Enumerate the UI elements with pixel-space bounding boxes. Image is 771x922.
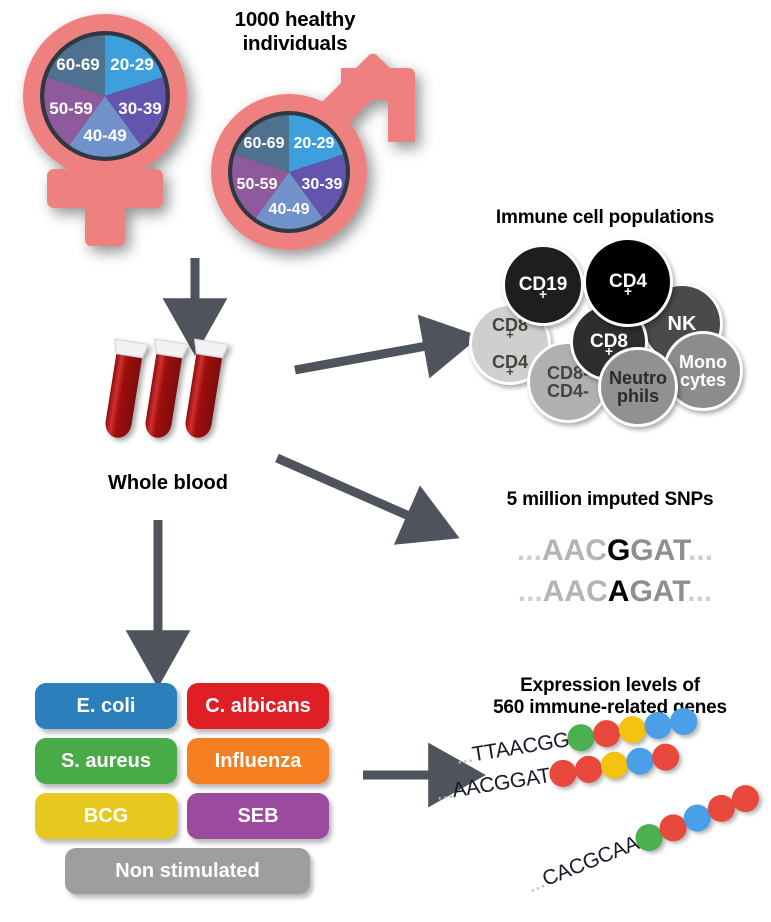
snp-prefix: ... [518,575,543,608]
expression-strand: ...CACGCAA [523,781,763,899]
stimulus-c-albicans[interactable]: C. albicans [187,683,329,729]
stimulus-label: E. coli [77,695,136,718]
svg-text:20-29: 20-29 [110,55,153,74]
immune-cell-cluster: CD8+CD4+ CD19+ CD4+ NK CD8+ CD8-CD4- Neu… [455,237,755,422]
strand-bases: CACGCAA [539,831,642,890]
svg-text:40-49: 40-49 [83,126,126,145]
stimulus-non-stimulated[interactable]: Non stimulated [65,848,310,894]
stimuli-panel: E. coli C. albicans S. aureus Influenza … [35,683,340,894]
stimulus-label: Non stimulated [115,860,259,883]
svg-text:60-69: 60-69 [56,55,99,74]
strand-sequence-text: ...AACGGAT [434,764,552,806]
snp-left: AAC [542,534,607,567]
cell-neutrophils[interactable]: Neutrophils [598,347,678,427]
expression-strands: ...TTAACGG ...AACGGAT ...CACGCAA [450,730,770,915]
stimulus-influenza[interactable]: Influenza [187,738,329,784]
bead [650,742,681,773]
svg-text:40-49: 40-49 [269,201,310,218]
bead [573,754,604,785]
strand-sequence-text: ...CACGCAA [524,831,643,898]
blood-tubes [100,335,240,465]
bead [617,714,648,745]
expression-title: Expression levels of 560 immune-related … [455,675,765,720]
stimulus-e-coli[interactable]: E. coli [35,683,177,729]
arrow-blood-to-immune [295,343,443,370]
svg-text:60-69: 60-69 [244,135,285,152]
snp-right: GAT [630,534,688,567]
snp-prefix: ... [517,534,542,567]
stimuli-grid: E. coli C. albicans S. aureus Influenza … [35,683,340,839]
snp-sequence-row: ...AACAGAT... [470,571,760,612]
snp-suffix: ... [688,534,713,567]
stimulus-bcg[interactable]: BCG [35,793,177,839]
expression-title-line2: 560 immune-related genes [455,697,765,719]
snp-variant: G [607,534,630,567]
snp-sequences: ...AACGGAT... ...AACAGAT... [470,530,760,613]
whole-blood-label: Whole blood [78,472,258,495]
cell-cd19pos[interactable]: CD19+ [502,244,584,326]
snp-left: AAC [543,575,608,608]
snp-right: GAT [629,575,687,608]
stimulus-label: BCG [84,805,128,828]
immune-title: Immune cell populations [450,207,760,229]
male-symbol: 20-29 30-39 40-49 50-59 60-69 [196,60,426,260]
svg-text:50-59: 50-59 [49,99,92,118]
stimulus-label: SEB [237,805,278,828]
bead [624,746,655,777]
svg-text:30-39: 30-39 [302,176,343,193]
snps-title: 5 million imputed SNPs [460,489,760,511]
svg-text:20-29: 20-29 [294,135,335,152]
snp-variant: A [608,575,630,608]
stimulus-s-aureus[interactable]: S. aureus [35,738,177,784]
stimulus-label: S. aureus [61,750,151,773]
svg-text:50-59: 50-59 [237,176,278,193]
snp-sequence-row: ...AACGGAT... [470,530,760,571]
snp-suffix: ... [687,575,712,608]
svg-text:30-39: 30-39 [118,99,161,118]
arrow-blood-to-snps [277,458,425,523]
bead [669,706,700,737]
stimulus-label: Influenza [215,750,302,773]
figure-canvas: 1000 healthy individuals [0,0,771,922]
bead [592,718,623,749]
cell-cd4pos[interactable]: CD4+ [583,237,673,327]
stimulus-label: C. albicans [205,695,311,718]
bead [598,750,629,781]
expression-title-line1: Expression levels of [455,675,765,697]
stimulus-seb[interactable]: SEB [187,793,329,839]
bead [643,710,674,741]
